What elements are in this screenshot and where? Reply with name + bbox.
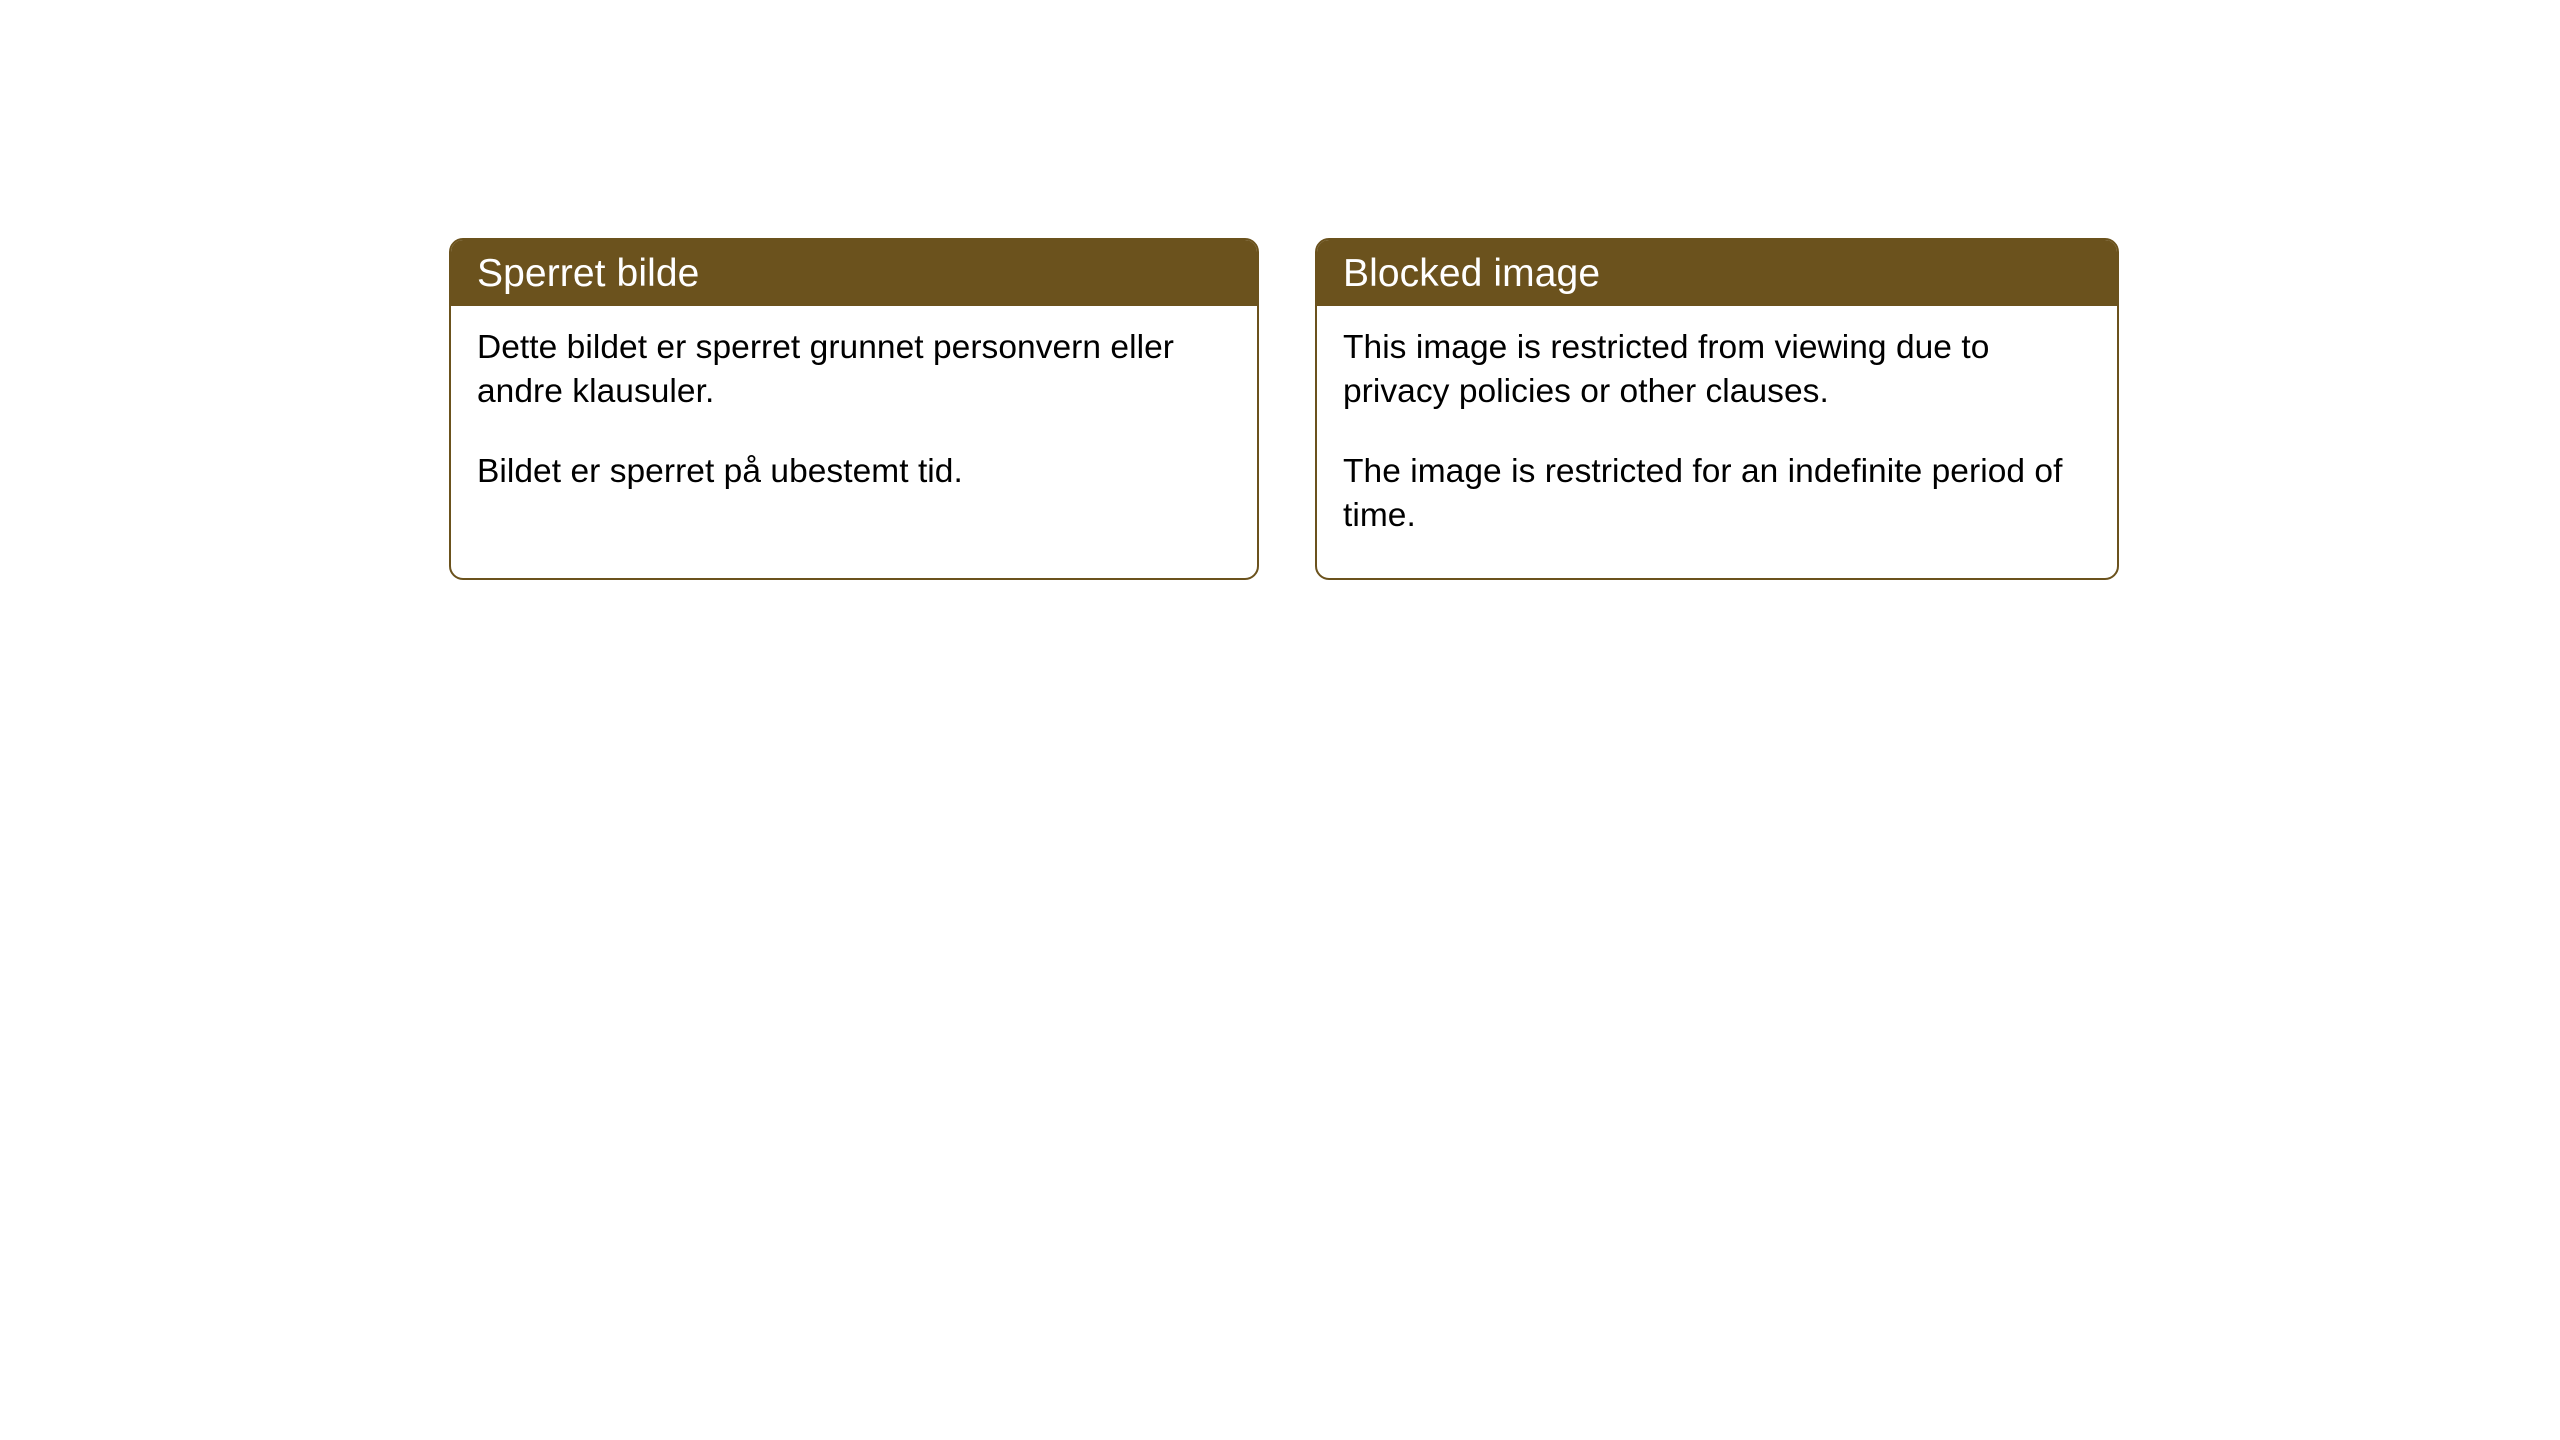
card-paragraph-primary-norwegian: Dette bildet er sperret grunnet personve… xyxy=(477,326,1231,414)
blocked-image-notice-card-norwegian: Sperret bilde Dette bildet er sperret gr… xyxy=(449,238,1259,580)
card-body-norwegian: Dette bildet er sperret grunnet personve… xyxy=(451,306,1257,494)
card-paragraph-secondary-english: The image is restricted for an indefinit… xyxy=(1343,450,2091,538)
card-paragraph-primary-english: This image is restricted from viewing du… xyxy=(1343,326,2091,414)
card-header-norwegian: Sperret bilde xyxy=(451,240,1257,306)
card-body-english: This image is restricted from viewing du… xyxy=(1317,306,2117,538)
page-background: Sperret bilde Dette bildet er sperret gr… xyxy=(0,0,2560,1440)
card-paragraph-secondary-norwegian: Bildet er sperret på ubestemt tid. xyxy=(477,450,1231,494)
card-title-norwegian: Sperret bilde xyxy=(477,254,699,293)
blocked-image-notice-card-english: Blocked image This image is restricted f… xyxy=(1315,238,2119,580)
card-title-english: Blocked image xyxy=(1343,254,1600,293)
card-header-english: Blocked image xyxy=(1317,240,2117,306)
